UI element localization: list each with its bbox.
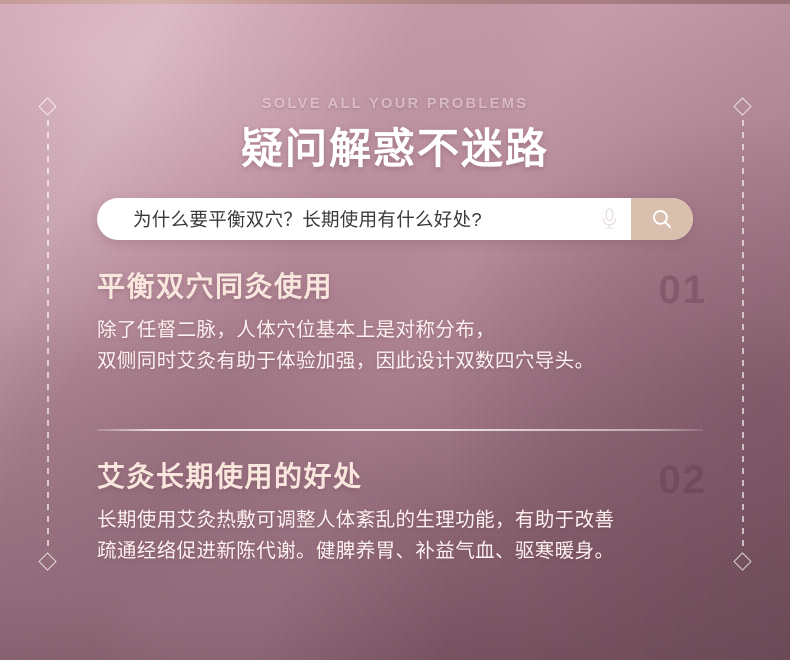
microphone-button[interactable] (587, 198, 631, 240)
section-body-line: 长期使用艾灸热敷可调整人体紊乱的生理功能，有助于改善 (97, 505, 707, 536)
page-title: 疑问解惑不迷路 (0, 122, 790, 176)
info-section-01: 01 平衡双穴同灸使用 除了任督二脉，人体穴位基本上是对称分布， 双侧同时艾灸有… (97, 268, 707, 377)
dashed-vertical-line (47, 120, 49, 548)
diamond-outline-icon (38, 552, 56, 570)
eyebrow-text: SOLVE ALL YOUR PROBLEMS (0, 96, 790, 112)
section-body-line: 除了任督二脉，人体穴位基本上是对称分布， (97, 315, 707, 346)
diamond-outline-icon (733, 552, 751, 570)
section-body-line: 双侧同时艾灸有助于体验加强，因此设计双数四穴导头。 (97, 346, 707, 377)
section-body: 长期使用艾灸热敷可调整人体紊乱的生理功能，有助于改善 疏通经络促进新陈代谢。健脾… (97, 505, 707, 567)
search-bar[interactable]: 为什么要平衡双穴？长期使用有什么好处? (97, 198, 693, 240)
search-icon (651, 208, 673, 230)
search-button[interactable] (631, 198, 693, 240)
dashed-vertical-line (742, 120, 744, 548)
info-section-02: 02 艾灸长期使用的好处 长期使用艾灸热敷可调整人体紊乱的生理功能，有助于改善 … (97, 458, 707, 567)
microphone-icon (600, 207, 619, 231)
search-input[interactable]: 为什么要平衡双穴？长期使用有什么好处? (97, 206, 587, 232)
section-body: 除了任督二脉，人体穴位基本上是对称分布， 双侧同时艾灸有助于体验加强，因此设计双… (97, 315, 707, 377)
top-edge-strip (0, 0, 790, 4)
promo-banner: SOLVE ALL YOUR PROBLEMS 疑问解惑不迷路 为什么要平衡双穴… (0, 0, 790, 660)
section-body-line: 疏通经络促进新陈代谢。健脾养胃、补益气血、驱寒暖身。 (97, 536, 707, 567)
section-divider (97, 429, 703, 431)
section-heading: 平衡双穴同灸使用 (97, 268, 707, 306)
section-heading: 艾灸长期使用的好处 (97, 458, 707, 496)
